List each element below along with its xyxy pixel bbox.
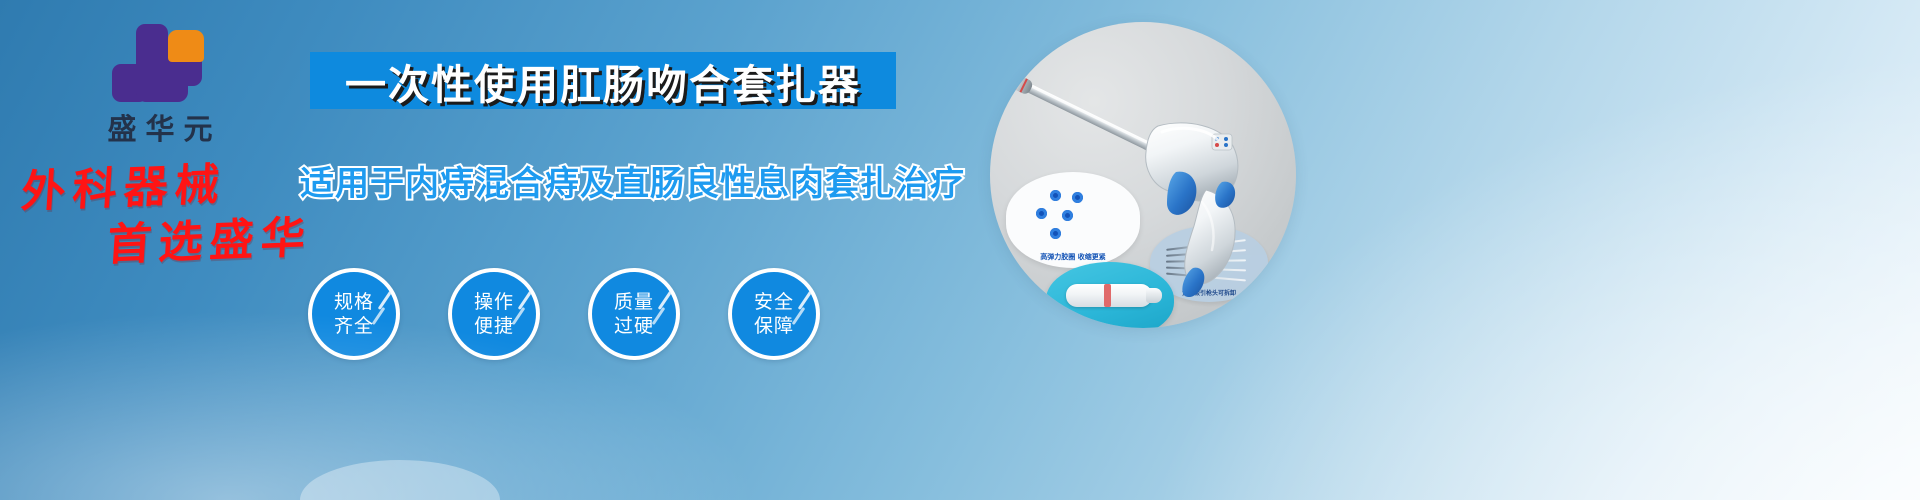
feature-badge-quality-line1: 质量 bbox=[614, 290, 654, 314]
feature-badge-list: 规格 齐全 操作 便捷 质量 过硬 安全 保障 bbox=[308, 268, 868, 368]
logo-mark-icon bbox=[112, 24, 208, 102]
ligator-device-icon bbox=[990, 22, 1296, 328]
feature-badge-operation-line1: 操作 bbox=[474, 290, 514, 314]
feature-badge-safety-line1: 安全 bbox=[754, 290, 794, 314]
feature-badge-quality-line2: 过硬 bbox=[614, 314, 654, 338]
feature-badge-safety-line2: 保障 bbox=[754, 314, 794, 338]
calligraphy-line-2: 首选盛华 bbox=[106, 201, 315, 273]
feature-badge-quality[interactable]: 质量 过硬 bbox=[588, 268, 680, 360]
feature-badge-operation[interactable]: 操作 便捷 bbox=[448, 268, 540, 360]
bottom-glow bbox=[300, 460, 500, 500]
feature-badge-specs-line2: 齐全 bbox=[334, 314, 374, 338]
subheadline-text: 适用于内痔混合痔及直肠良性息肉套扎治疗 bbox=[300, 156, 900, 205]
headline-bar: 一次性使用肛肠吻合套扎器 bbox=[310, 52, 896, 109]
product-photo: 高弹力胶圈 收缩更紧 负压吸引枪头可拆卸 bbox=[990, 22, 1296, 328]
headline-text: 一次性使用肛肠吻合套扎器 bbox=[345, 51, 861, 111]
feature-badge-operation-line2: 便捷 bbox=[474, 314, 514, 338]
feature-badge-specs-line1: 规格 bbox=[334, 290, 374, 314]
logo-wordmark: 盛华元 bbox=[60, 106, 260, 148]
promo-banner: 盛华元 外科器械 首选盛华 一次性使用肛肠吻合套扎器 适用于内痔混合痔及直肠良性… bbox=[0, 0, 1920, 500]
feature-badge-specs[interactable]: 规格 齐全 bbox=[308, 268, 400, 360]
brand-logo: 盛华元 bbox=[60, 24, 260, 148]
feature-badge-safety[interactable]: 安全 保障 bbox=[728, 268, 820, 360]
